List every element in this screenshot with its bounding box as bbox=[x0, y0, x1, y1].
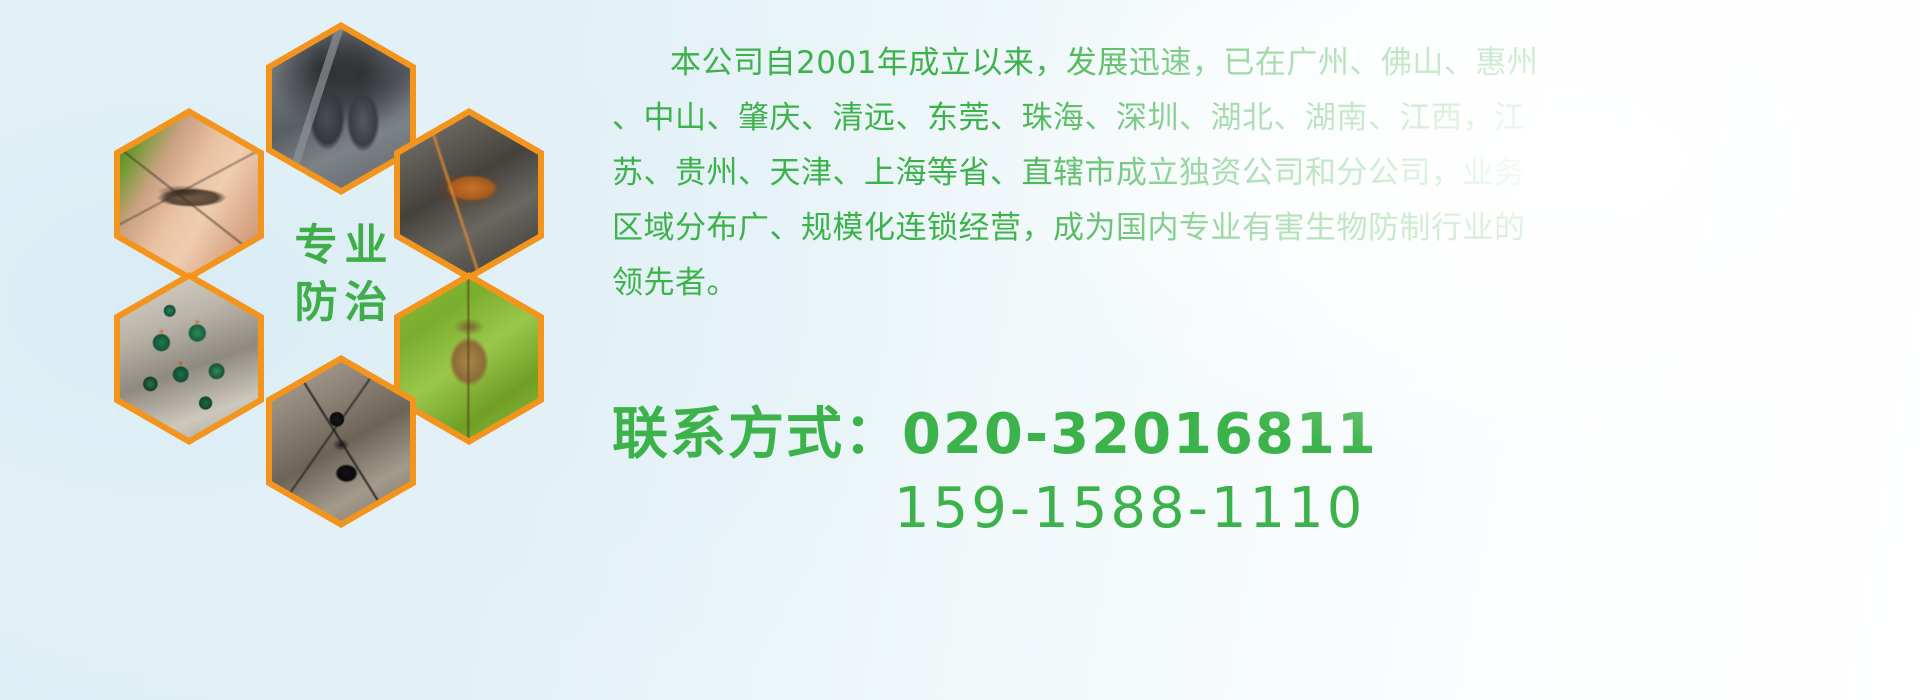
hex-inner bbox=[120, 279, 258, 438]
hex-cell-mosquito[interactable] bbox=[114, 108, 264, 281]
slogan-line-2: 防治 bbox=[288, 275, 395, 332]
hex-cell-flies[interactable] bbox=[114, 272, 264, 445]
ant-photo bbox=[272, 362, 410, 521]
description-line-5: 领先者。 bbox=[612, 256, 1912, 311]
hex-cell-slogan: 专业 防治 bbox=[266, 188, 416, 361]
hex-inner bbox=[400, 279, 538, 438]
slogan-text: 专业 防治 bbox=[288, 218, 395, 332]
contact-phone-primary[interactable]: 联系方式：020-32016811 bbox=[612, 398, 1912, 472]
promo-banner: 专业 防治 本公司自2001年成立以来，发展迅速，已在广州、佛山、惠州 、中山、… bbox=[0, 0, 1920, 700]
hex-inner bbox=[120, 115, 258, 274]
cockroach-photo bbox=[400, 115, 538, 274]
description-line-2: 、中山、肇庆、清远、东莞、珠海、深圳、湖北、湖南、江西，江 bbox=[612, 91, 1912, 146]
rats-photo bbox=[272, 29, 410, 188]
mosquito-photo bbox=[120, 115, 258, 274]
stinkbug-photo bbox=[400, 279, 538, 438]
hex-cell-stinkbug[interactable] bbox=[394, 272, 544, 445]
company-description: 本公司自2001年成立以来，发展迅速，已在广州、佛山、惠州 、中山、肇庆、清远、… bbox=[612, 36, 1912, 311]
hex-inner bbox=[400, 115, 538, 274]
description-line-3: 苏、贵州、天津、上海等省、直辖市成立独资公司和分公司，业务 bbox=[612, 146, 1912, 201]
description-line-4: 区域分布广、规模化连锁经营，成为国内专业有害生物防制行业的 bbox=[612, 201, 1912, 256]
contact-phone-secondary[interactable]: 159-1588-1110 bbox=[612, 472, 1912, 546]
hex-inner bbox=[272, 29, 410, 188]
hex-cell-cockroach[interactable] bbox=[394, 108, 544, 281]
contact-block: 联系方式：020-32016811 159-1588-1110 bbox=[612, 398, 1912, 546]
description-line-1: 本公司自2001年成立以来，发展迅速，已在广州、佛山、惠州 bbox=[612, 36, 1912, 91]
hex-cell-ant[interactable] bbox=[266, 355, 416, 528]
slogan-line-1: 专业 bbox=[288, 218, 395, 275]
honeycomb-gallery: 专业 防治 bbox=[0, 0, 620, 580]
hex-cell-rats[interactable] bbox=[266, 22, 416, 195]
hex-inner bbox=[272, 362, 410, 521]
hex-inner: 专业 防治 bbox=[272, 195, 410, 354]
flies-photo bbox=[120, 279, 258, 438]
